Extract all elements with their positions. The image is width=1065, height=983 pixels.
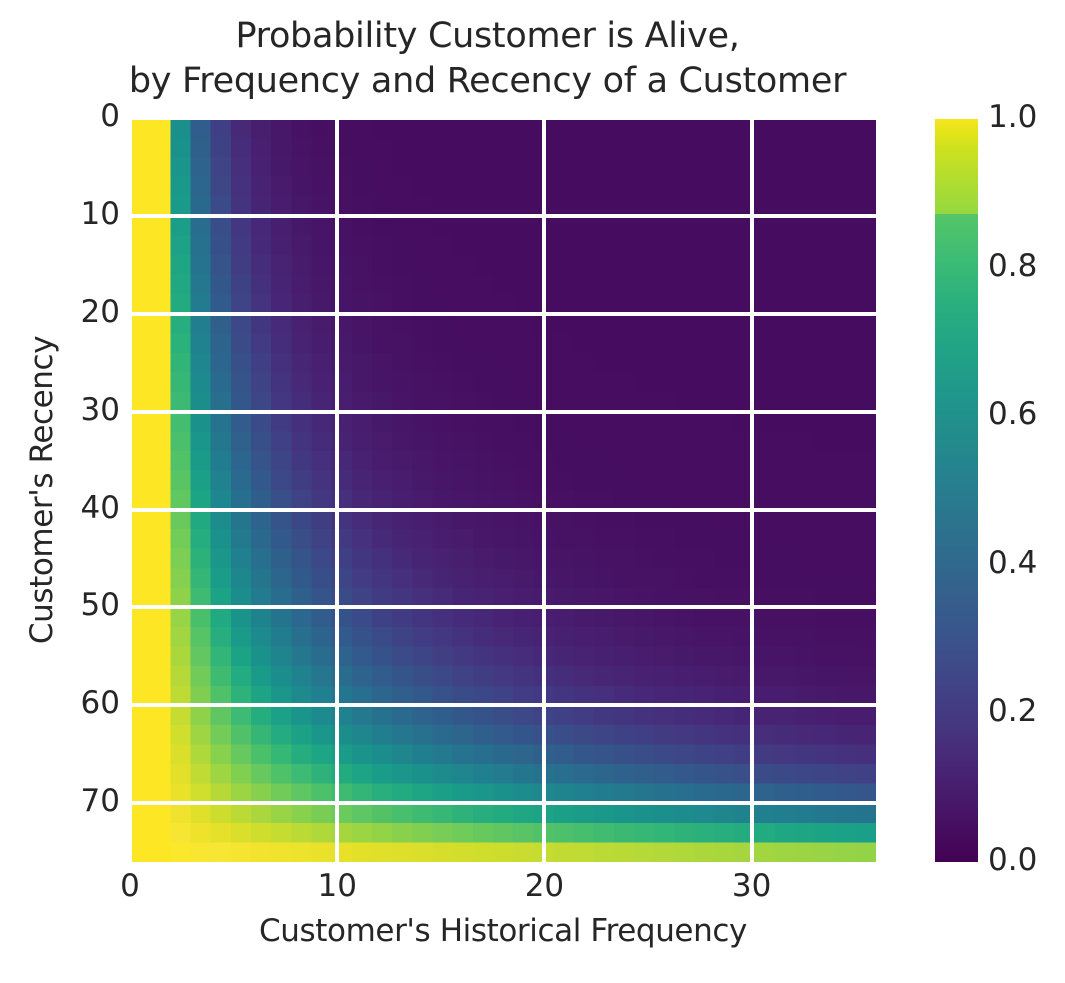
x-tick-label: 30 [707, 868, 797, 904]
x-tick-label: 10 [292, 868, 382, 904]
heatmap-cells [130, 118, 876, 862]
x-tick-label: 20 [499, 868, 589, 904]
gridline-horizontal [130, 801, 876, 805]
gridline-vertical [130, 118, 132, 862]
heatmap-plot-area [130, 118, 876, 862]
colorbar-tick-label: 1.0 [988, 99, 1037, 135]
colorbar-gradient [935, 119, 978, 862]
colorbar-tick-label: 0.6 [988, 396, 1037, 432]
y-axis-label: Customer's Recency [24, 120, 60, 860]
gridline-horizontal [130, 703, 876, 707]
gridline-vertical [750, 118, 754, 862]
gridline-vertical [542, 118, 546, 862]
colorbar-gradient-high [935, 119, 978, 214]
colorbar-tick-label: 0.8 [988, 248, 1037, 284]
gridline-horizontal [130, 214, 876, 218]
x-axis-label: Customer's Historical Frequency [130, 913, 876, 949]
gridline-vertical [335, 118, 339, 862]
gridline-horizontal [130, 508, 876, 512]
colorbar-tick-label: 0.4 [988, 545, 1037, 581]
gridline-horizontal [130, 605, 876, 609]
gridline-horizontal [130, 312, 876, 316]
gridline-horizontal [130, 410, 876, 414]
colorbar-tick-label: 0.0 [988, 842, 1037, 878]
colorbar-tick-label: 0.2 [988, 693, 1037, 729]
x-tick-label: 0 [85, 868, 175, 904]
chart-title: Probability Customer is Alive, by Freque… [0, 14, 975, 104]
figure-canvas: Probability Customer is Alive, by Freque… [0, 0, 1065, 983]
gridline-horizontal [130, 118, 876, 120]
